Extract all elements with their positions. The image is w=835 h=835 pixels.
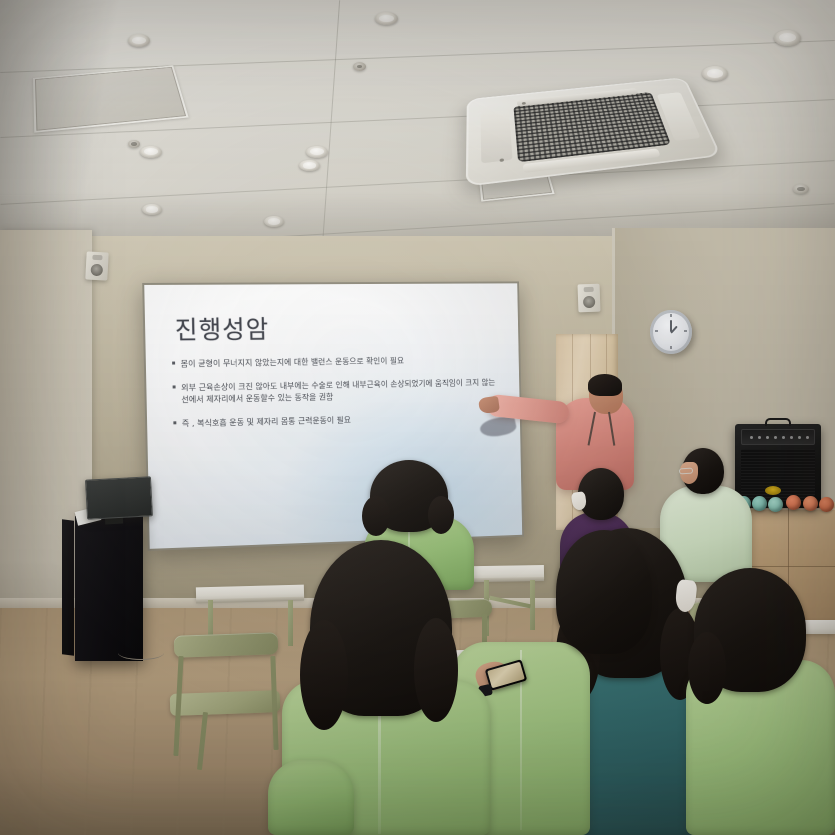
ceiling-downlight (774, 30, 801, 46)
wall-clock (650, 310, 692, 354)
smoke-detector (128, 140, 140, 148)
audience-torso (268, 760, 354, 835)
projection-screen: 진행성암 ▪ 몸이 균형이 무너지지 않았는지에 대한 밸런스 운동으로 확인이… (142, 281, 524, 550)
amp-logo (765, 486, 781, 495)
exercise-ball (803, 496, 818, 511)
presenter-monitor (85, 476, 153, 519)
lecture-room-photo: 진행성암 ▪ 몸이 균형이 무너지지 않았는지에 대한 밸런스 운동으로 확인이… (0, 0, 835, 835)
bullet-marker-icon: ▪ (172, 359, 176, 371)
presenter-hair (588, 374, 622, 396)
ceiling-downlight (299, 160, 320, 171)
slide-bullet-list: ▪ 몸이 균형이 무너지지 않았는지에 대한 밸런스 운동으로 확인이 필요 ▪… (172, 354, 499, 442)
smoke-detector (353, 62, 366, 71)
list-item: ▪ 외부 근육손상이 크진 않아도 내부에는 수술로 인해 내부근육이 손상되었… (172, 377, 498, 406)
slide-surface: 진행성암 ▪ 몸이 균형이 무너지지 않았는지에 대한 밸런스 운동으로 확인이… (144, 283, 522, 549)
hair (414, 618, 458, 722)
air-conditioner-unit (466, 77, 722, 186)
hair (300, 620, 348, 730)
folding-chair-seat (170, 690, 281, 716)
exercise-ball (768, 497, 783, 512)
podium-lectern (75, 516, 143, 661)
folding-chair-back (174, 632, 279, 658)
hair (688, 632, 726, 704)
ceiling-downlight (702, 66, 728, 81)
list-item: ▪ 몸이 균형이 무너지지 않았는지에 대한 밸런스 운동으로 확인이 필요 (172, 354, 498, 370)
wall-speaker-right (578, 284, 601, 313)
ceiling-downlight (375, 12, 398, 25)
list-item: ▪ 즉 , 복식호흡 운동 및 제자리 몸통 근력운동이 필요 (173, 411, 499, 430)
hair (428, 496, 454, 534)
floor-cable (118, 646, 164, 660)
ceiling (0, 0, 835, 262)
bullet-marker-icon: ▪ (172, 382, 177, 406)
bullet-text: 외부 근육손상이 크진 않아도 내부에는 수술로 인해 내부근육이 손상되었기에… (181, 377, 498, 406)
ceiling-downlight (128, 34, 150, 47)
podium-side (62, 519, 74, 655)
bullet-text: 즉 , 복식호흡 운동 및 제자리 몸통 근력운동이 필요 (182, 411, 499, 430)
bullet-marker-icon: ▪ (173, 418, 177, 430)
wall-speaker-left (85, 251, 108, 280)
ceiling-downlight (306, 146, 328, 158)
slide-title: 진행성암 (174, 310, 269, 347)
hair (362, 496, 390, 536)
exercise-ball (819, 497, 834, 512)
exercise-ball (752, 496, 767, 511)
table-leg (288, 600, 293, 646)
ceiling-downlight (140, 146, 162, 158)
eyeglasses (679, 468, 693, 475)
audience-head (556, 530, 652, 654)
exercise-ball (786, 495, 801, 510)
amp-handle (765, 418, 791, 426)
bullet-text: 몸이 균형이 무너지지 않았는지에 대한 밸런스 운동으로 확인이 필요 (181, 354, 498, 370)
amp-control-panel (741, 429, 815, 445)
